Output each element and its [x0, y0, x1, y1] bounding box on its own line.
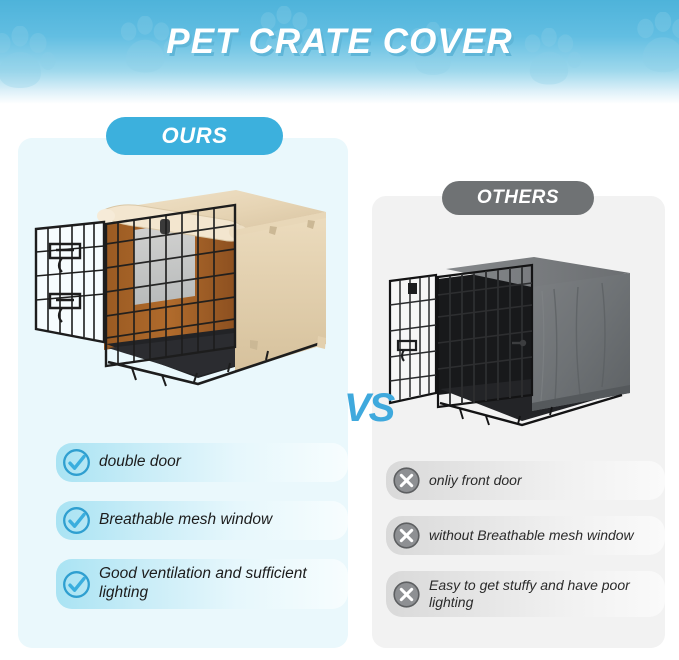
page-title: PET CRATE COVER — [0, 22, 679, 62]
check-circle-icon — [62, 570, 91, 599]
ours-product-image — [22, 172, 348, 404]
others-feature-label: onliy front door — [429, 472, 522, 489]
ours-feature-label: Breathable mesh window — [99, 511, 272, 530]
x-circle-icon — [392, 466, 421, 495]
x-circle-icon — [392, 521, 421, 550]
others-product-image — [382, 243, 662, 435]
others-feature-row: without Breathable mesh window — [386, 516, 665, 555]
others-feature-label: Easy to get stuffy and have poor lightin… — [429, 577, 657, 611]
others-badge: OTHERS — [442, 181, 594, 215]
others-feature-row: Easy to get stuffy and have poor lightin… — [386, 571, 665, 617]
ours-badge: OURS — [106, 117, 283, 155]
others-feature-list: onliy front door without Breathable mesh… — [386, 461, 665, 633]
ours-feature-label: Good ventilation and sufficient lighting — [99, 565, 340, 603]
others-feature-label: without Breathable mesh window — [429, 527, 634, 544]
ours-feature-label: double door — [99, 453, 181, 472]
header-banner: PET CRATE COVER — [0, 0, 679, 104]
ours-feature-row: Good ventilation and sufficient lighting — [56, 559, 348, 609]
check-circle-icon — [62, 506, 91, 535]
vs-label: VS — [344, 386, 393, 431]
x-circle-icon — [392, 580, 421, 609]
ours-feature-row: double door — [56, 443, 348, 482]
check-circle-icon — [62, 448, 91, 477]
ours-feature-list: double door Breathable mesh window Good … — [56, 443, 348, 628]
ours-feature-row: Breathable mesh window — [56, 501, 348, 540]
others-feature-row: onliy front door — [386, 461, 665, 500]
